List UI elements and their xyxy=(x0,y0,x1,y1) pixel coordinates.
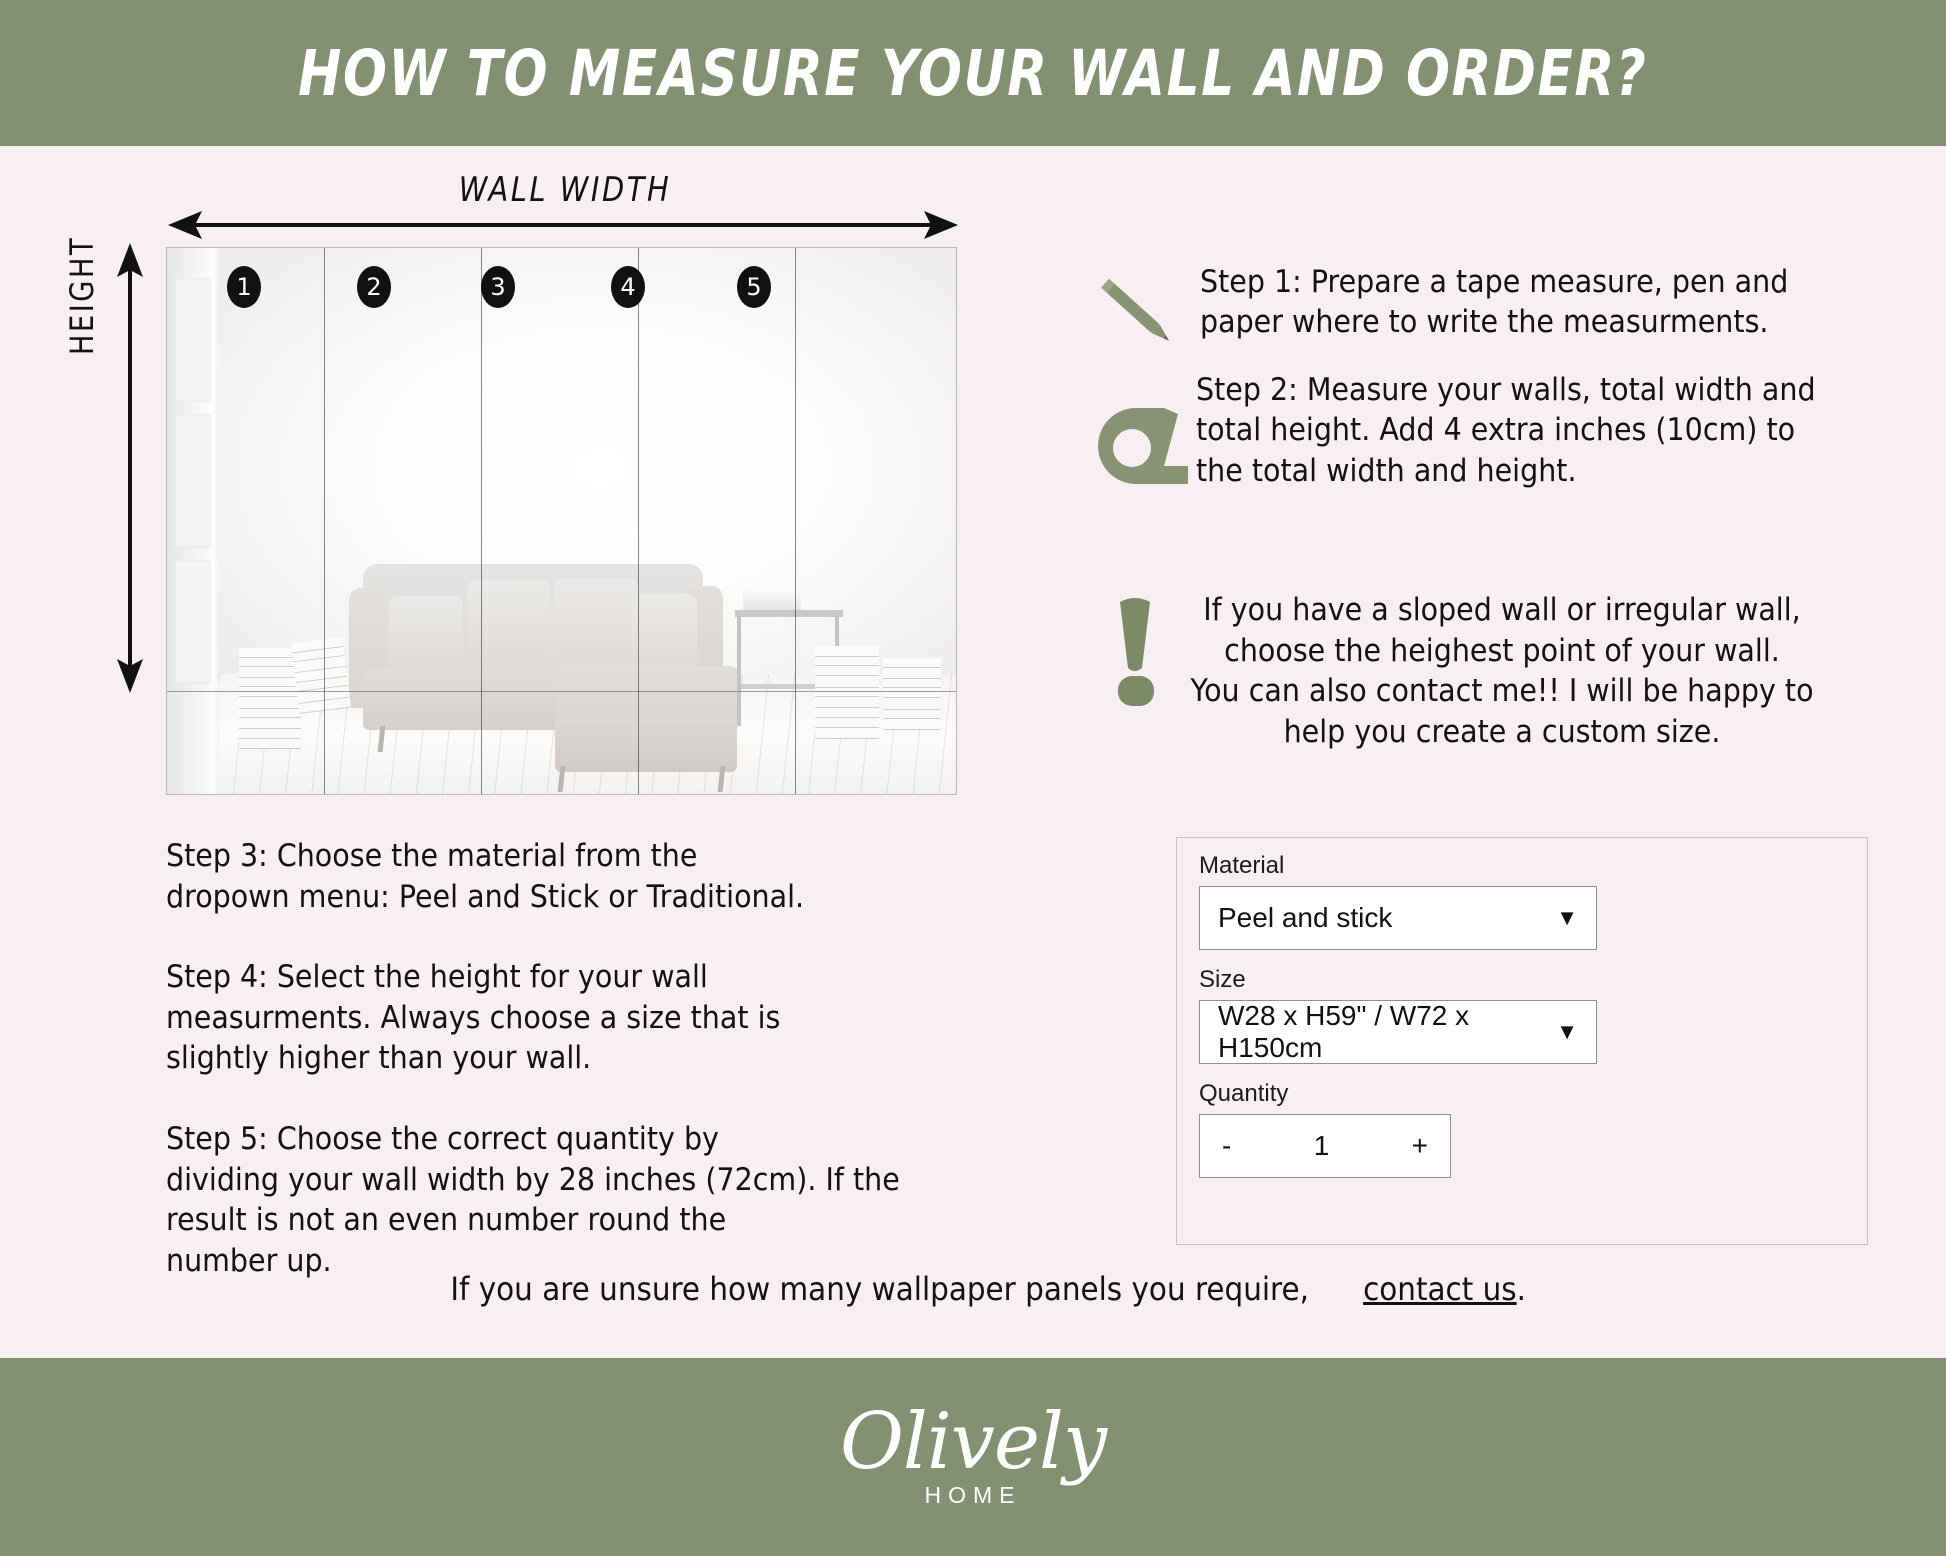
material-select[interactable]: Peel and stick ▼ xyxy=(1199,886,1597,950)
pillow xyxy=(553,578,639,672)
page-title: HOW TO MEASURE YOUR WALL AND ORDER? xyxy=(298,37,1647,110)
pillow xyxy=(633,594,697,674)
infographic-page: HOW TO MEASURE YOUR WALL AND ORDER? WALL… xyxy=(0,0,1946,1556)
step-4-text: Step 4: Select the height for your wall … xyxy=(166,957,930,1079)
quantity-label: Quantity xyxy=(1199,1080,1288,1108)
step-2-text: Step 2: Measure your walls, total width … xyxy=(1196,370,1849,491)
brand-name: Olively xyxy=(840,1405,1106,1479)
book-stack xyxy=(239,648,301,749)
panel-divider xyxy=(795,248,796,794)
quantity-decrement-button[interactable]: - xyxy=(1222,1130,1231,1162)
panel-number-label: 3 xyxy=(490,273,505,301)
contact-us-link[interactable]: contact us xyxy=(1363,1270,1517,1308)
room-scene xyxy=(167,248,956,794)
pencil-icon xyxy=(1082,262,1192,362)
floor-reference-line xyxy=(166,691,956,692)
panel-number-label: 5 xyxy=(746,273,761,301)
header-banner: HOW TO MEASURE YOUR WALL AND ORDER? xyxy=(0,0,1946,146)
table-books xyxy=(743,588,801,610)
panel-number-badge: 3 xyxy=(481,266,515,308)
sofa-seat xyxy=(363,668,563,730)
step-1-text: Step 1: Prepare a tape measure, pen and … xyxy=(1200,262,1844,343)
pillow xyxy=(467,580,551,672)
sofa-chaise xyxy=(555,666,737,772)
step-2-block: Step 2: Measure your walls, total width … xyxy=(1196,370,1906,491)
panel-divider xyxy=(324,248,325,794)
wall-preview-photo: 1 2 3 4 5 xyxy=(166,247,957,795)
footer-note-line1: If you are unsure how many wallpaper pan… xyxy=(450,1268,1309,1311)
book-stack xyxy=(815,646,879,739)
steps-left-column: Step 3: Choose the material from the dro… xyxy=(166,836,996,1321)
size-value: W28 x H59" / W72 x H150cm xyxy=(1218,1000,1556,1064)
step-1-block: Step 1: Prepare a tape measure, pen and … xyxy=(1200,262,1900,343)
quantity-value: 1 xyxy=(1314,1130,1330,1162)
panel-number-badge: 4 xyxy=(611,266,645,308)
wall-width-label: WALL WIDTH xyxy=(459,170,672,210)
wall-height-label: HEIGHT xyxy=(63,236,101,355)
wall-height-arrow-icon xyxy=(110,243,150,693)
size-select[interactable]: W28 x H59" / W72 x H150cm ▼ xyxy=(1199,1000,1597,1064)
chevron-down-icon: ▼ xyxy=(1556,907,1578,929)
pillow xyxy=(389,596,463,674)
wall-width-arrow-icon xyxy=(168,205,958,245)
panel-number-badge: 2 xyxy=(357,266,391,308)
footer-note-period: . xyxy=(1517,1270,1526,1308)
quantity-stepper[interactable]: - 1 + xyxy=(1199,1114,1451,1178)
panel-number-label: 1 xyxy=(236,273,251,301)
book-stack xyxy=(291,637,351,714)
footer-note: If you are unsure how many wallpaper pan… xyxy=(0,1268,1946,1311)
panel-number-label: 2 xyxy=(366,273,381,301)
material-label: Material xyxy=(1199,852,1284,880)
warning-text: If you have a sloped wall or irregular w… xyxy=(1180,590,1824,752)
step-3-text: Step 3: Choose the material from the dro… xyxy=(166,836,930,917)
exclamation-icon xyxy=(1098,596,1172,708)
panel-number-badge: 1 xyxy=(227,266,261,308)
panel-divider xyxy=(638,248,639,794)
footer-banner: Olively HOME xyxy=(0,1358,1946,1556)
brand-subtitle: HOME xyxy=(925,1482,1022,1509)
panel-divider xyxy=(481,248,482,794)
step-5-text: Step 5: Choose the correct quantity by d… xyxy=(166,1119,930,1281)
quantity-increment-button[interactable]: + xyxy=(1412,1130,1428,1162)
tape-measure-icon xyxy=(1092,392,1204,496)
door xyxy=(167,248,219,794)
size-label: Size xyxy=(1199,966,1246,994)
panel-number-badge: 5 xyxy=(737,266,771,308)
book-stack xyxy=(883,658,941,730)
order-form-panel: Material Peel and stick ▼ Size W28 x H59… xyxy=(1176,837,1868,1245)
material-value: Peel and stick xyxy=(1218,902,1392,934)
chevron-down-icon: ▼ xyxy=(1556,1021,1578,1043)
panel-number-label: 4 xyxy=(620,273,635,301)
